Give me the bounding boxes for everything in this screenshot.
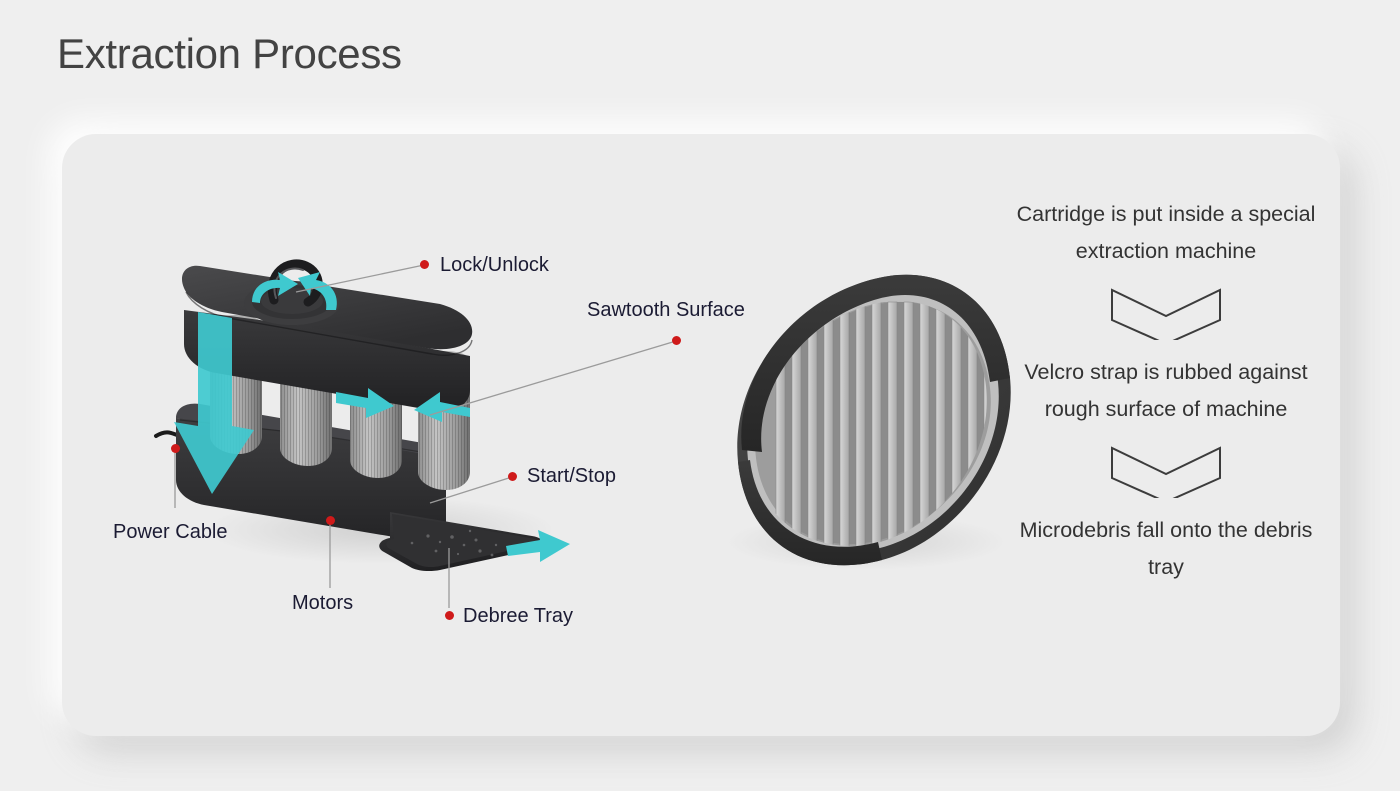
annotation-label-motors: Motors [292, 592, 353, 615]
annotation-label-sawtooth-surface: Sawtooth Surface [587, 299, 745, 322]
sawtooth-fins [776, 302, 993, 552]
slide-canvas: Extraction Process [0, 0, 1400, 791]
annotation-label-debree-tray: Debree Tray [463, 605, 573, 628]
marker-debree-tray [445, 611, 454, 620]
marker-lock-unlock [420, 260, 429, 269]
annotation-label-start-stop: Start/Stop [527, 465, 616, 488]
chevron-down-icon [1108, 286, 1224, 340]
marker-power-cable [171, 444, 180, 453]
page-title: Extraction Process [57, 30, 402, 78]
step-2-text: Velcro strap is rubbed against rough sur… [1000, 354, 1332, 428]
marker-motors [326, 516, 335, 525]
process-steps: Cartridge is put inside a special extrac… [1000, 196, 1332, 586]
marker-sawtooth-surface [672, 336, 681, 345]
chevron-down-icon-2 [1108, 444, 1224, 498]
annotation-label-power-cable: Power Cable [113, 521, 228, 544]
marker-start-stop [508, 472, 517, 481]
step-1-text: Cartridge is put inside a special extrac… [1000, 196, 1332, 270]
annotation-label-lock-unlock: Lock/Unlock [440, 254, 549, 277]
step-3-text: Microdebris fall onto the debris tray [1000, 512, 1332, 586]
